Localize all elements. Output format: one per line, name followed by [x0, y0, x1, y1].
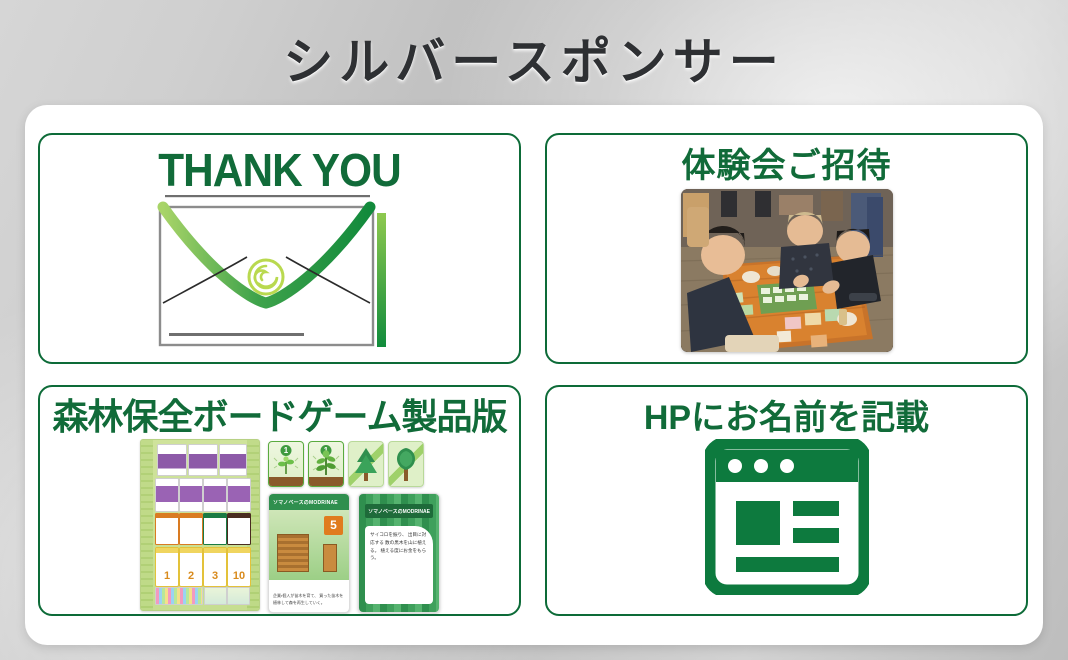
board-number-card: 3 — [203, 547, 227, 587]
browser-icon-wrap — [547, 439, 1026, 600]
game-board: 1 2 3 10 — [140, 439, 260, 611]
number-card-value: 3 — [212, 570, 218, 582]
envelope-illustration — [40, 195, 519, 355]
board-game-play-session-photo — [681, 189, 893, 352]
board-slot-card — [155, 513, 179, 545]
benefit-card-board-game[interactable]: 森林保全ボードゲーム製品版 1 2 3 10 — [38, 385, 521, 616]
board-token-strip — [204, 587, 227, 605]
board-number-card: 2 — [179, 547, 203, 587]
rule-card-back: ソマノベースのMODRINAE サイコロを振り、 出目に対応する 数の黒木を山に… — [358, 493, 440, 613]
board-number-card: 1 — [155, 547, 179, 587]
board-mini-card — [219, 444, 247, 476]
board-slot-card — [179, 513, 203, 545]
sapling-card: 1 — [308, 441, 344, 487]
board-tree-border-left — [141, 440, 153, 610]
benefit-card-hp-listing[interactable]: HPにお名前を記載 — [545, 385, 1028, 616]
broadleaf-tile — [388, 441, 424, 487]
seedling-card: 1 — [268, 441, 304, 487]
benefit-card-thank-you[interactable]: THANK YOU — [38, 133, 521, 364]
board-mini-card — [203, 478, 227, 512]
board-game-components: 1 2 3 10 1 — [40, 437, 519, 615]
board-mini-card — [155, 478, 179, 512]
board-mini-card — [188, 444, 218, 476]
board-token-strip — [227, 587, 250, 605]
rule-card-front-badge: 5 — [324, 516, 343, 535]
board-mini-card — [227, 478, 251, 512]
rule-card-back-body: サイコロを振り、 出目に対応する 数の黒木を山に植える。 植える度にお金をもらう… — [365, 526, 433, 604]
thank-you-title: THANK YOU — [59, 147, 500, 193]
event-photo-wrap — [547, 189, 1026, 357]
browser-window-icon — [705, 439, 869, 595]
board-number-card: 10 — [227, 547, 251, 587]
conifer-tile — [348, 441, 384, 487]
number-card-value: 1 — [164, 570, 170, 582]
number-card-value: 2 — [188, 570, 194, 582]
event-title: 体験会ご招待 — [547, 149, 1026, 183]
board-mini-card — [179, 478, 203, 512]
page-title: シルバースポンサー — [0, 22, 1068, 94]
board-token-strip — [155, 587, 203, 605]
board-mini-card — [157, 444, 187, 476]
board-game-title: 森林保全ボードゲーム製品版 — [40, 399, 519, 435]
board-slot-card — [227, 513, 251, 545]
sponsor-tier-slide: シルバースポンサー THANK YOU — [0, 0, 1068, 660]
board-slot-card — [203, 513, 227, 545]
rule-card-front-header: ソマノベースのMODRINAE — [269, 494, 349, 510]
benefit-card-event-invitation[interactable]: 体験会ご招待 — [545, 133, 1028, 364]
hp-listing-title: HPにお名前を記載 — [547, 401, 1026, 435]
envelope-with-rose-seal-icon — [155, 195, 405, 347]
number-card-value: 10 — [233, 570, 245, 582]
rule-card-back-header: ソマノベースのMODRINAE — [365, 504, 433, 518]
rule-card-front: ソマノベースのMODRINAE 5 企業・個人が苗木を育て、 買った苗木を植林し… — [268, 493, 350, 613]
rule-card-front-caption: 企業・個人が苗木を育て、 買った苗木を植林して森を再生していく。 — [273, 593, 345, 606]
